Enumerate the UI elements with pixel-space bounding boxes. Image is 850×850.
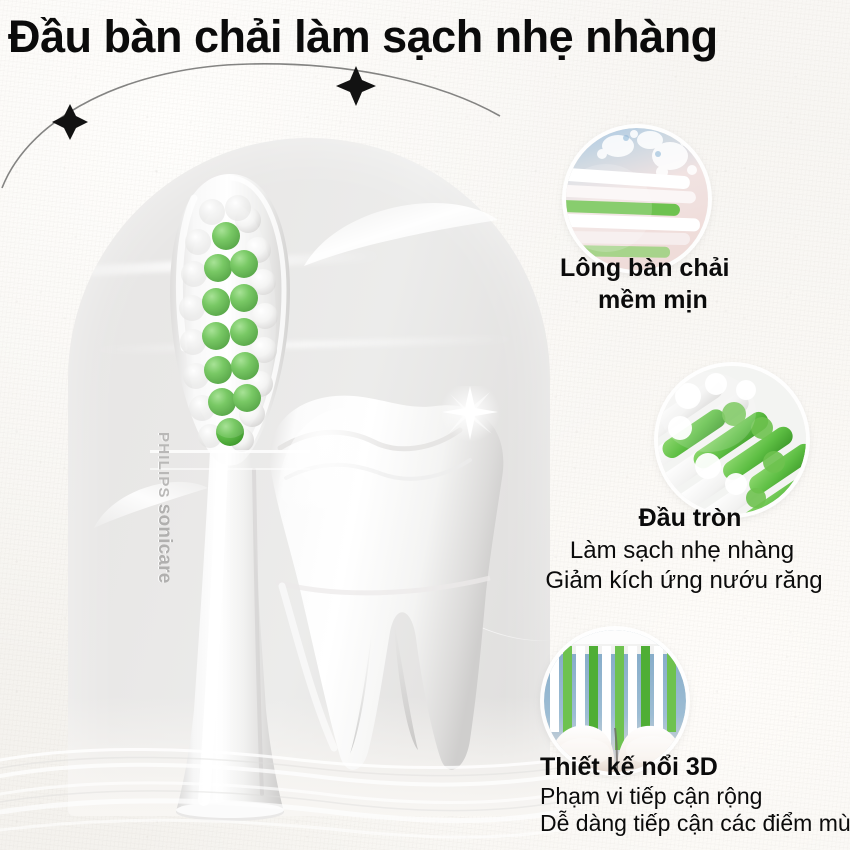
feature-2-line-1: Đầu tròn <box>540 502 840 535</box>
rounded-bristle-tips-macro-photo <box>658 366 806 514</box>
feature-2-line-3: Giảm kích ứng nướu răng <box>524 564 844 597</box>
brand-line: sonicare <box>154 504 175 584</box>
feature-1-line-2: mềm mịn <box>560 284 820 316</box>
brand-label: PHILIPSsonicare <box>149 432 175 662</box>
feature-3-line-3: Dễ dàng tiếp cận các điểm mù <box>540 808 850 838</box>
feature-3-line-2: Phạm vi tiếp cận rộng <box>540 781 850 811</box>
brand-maker: PHILIPS <box>155 432 172 499</box>
bristle-closeup-water-splash-photo <box>566 128 708 270</box>
feature-1-line-1: Lông bàn chải <box>560 252 820 284</box>
bristles-on-teeth-3d-contact-photo <box>544 630 686 772</box>
product-feature-image: PHILIPSsonicare Đầu bàn chải làm sạch nh… <box>0 0 850 850</box>
feature-3-line-1: Thiết kế nổi 3D <box>540 752 850 783</box>
feature-2-line-2: Làm sạch nhẹ nhàng <box>532 534 832 567</box>
page-title: Đầu bàn chải làm sạch nhẹ nhàng <box>8 8 842 66</box>
